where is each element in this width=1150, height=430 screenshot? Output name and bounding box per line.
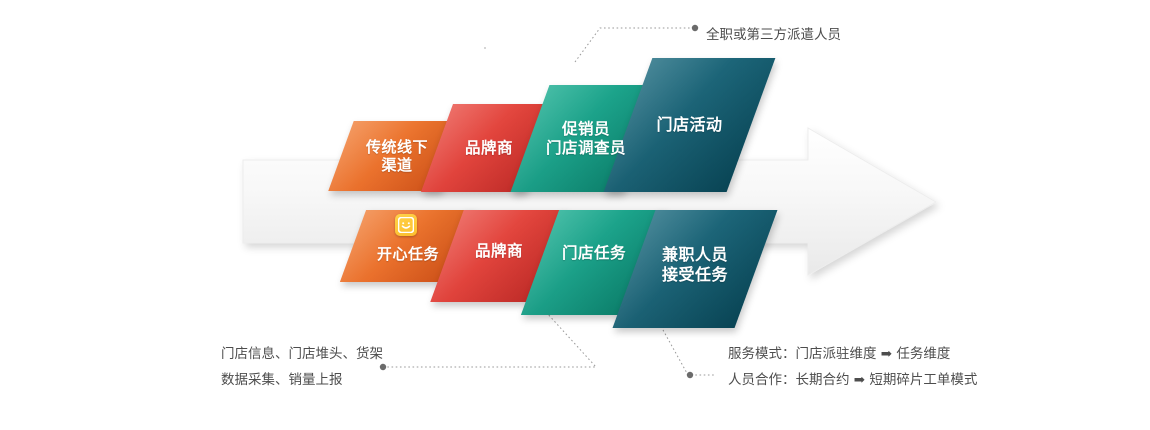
- callout-data-collection-line-1: 门店信息、门店堆头、货架: [221, 341, 383, 367]
- block-label: 开心任务: [377, 245, 439, 263]
- block-label: 品牌商: [475, 242, 523, 261]
- callout-fulltime-line-1: 全职或第三方派遣人员: [706, 22, 841, 48]
- callout-service-mode-line-1: 服务模式：门店派驻维度 ➡ 任务维度: [728, 341, 977, 367]
- block-store-activity[interactable]: 门店活动: [628, 58, 751, 192]
- block-label: 促销员门店调查员: [546, 120, 626, 158]
- smiley-icon: [395, 214, 417, 236]
- callout-service-mode: 服务模式：门店派驻维度 ➡ 任务维度 人员合作：长期合约 ➡ 短期碎片工单模式: [728, 341, 977, 394]
- block-label: 品牌商: [465, 139, 513, 158]
- callout-data-collection-line-2: 数据采集、销量上报: [221, 367, 383, 393]
- block-label: 传统线下渠道: [366, 138, 428, 175]
- callout-fulltime: 全职或第三方派遣人员: [706, 22, 841, 48]
- block-parttime-accept[interactable]: 兼职人员接受任务: [634, 210, 756, 328]
- callout-service-mode-line-2: 人员合作：长期合约 ➡ 短期碎片工单模式: [728, 367, 977, 393]
- callout-data-collection: 门店信息、门店堆头、货架 数据采集、销量上报: [221, 341, 383, 394]
- block-label: 门店活动: [656, 115, 722, 135]
- block-label: 门店任务: [562, 244, 626, 263]
- decor-dot: [484, 47, 486, 49]
- block-label: 兼职人员接受任务: [662, 245, 728, 284]
- diagram-canvas: 传统线下渠道 品牌商 促销员门店调查员 门店活动 开心任务 品牌商 门店任务: [0, 0, 1150, 430]
